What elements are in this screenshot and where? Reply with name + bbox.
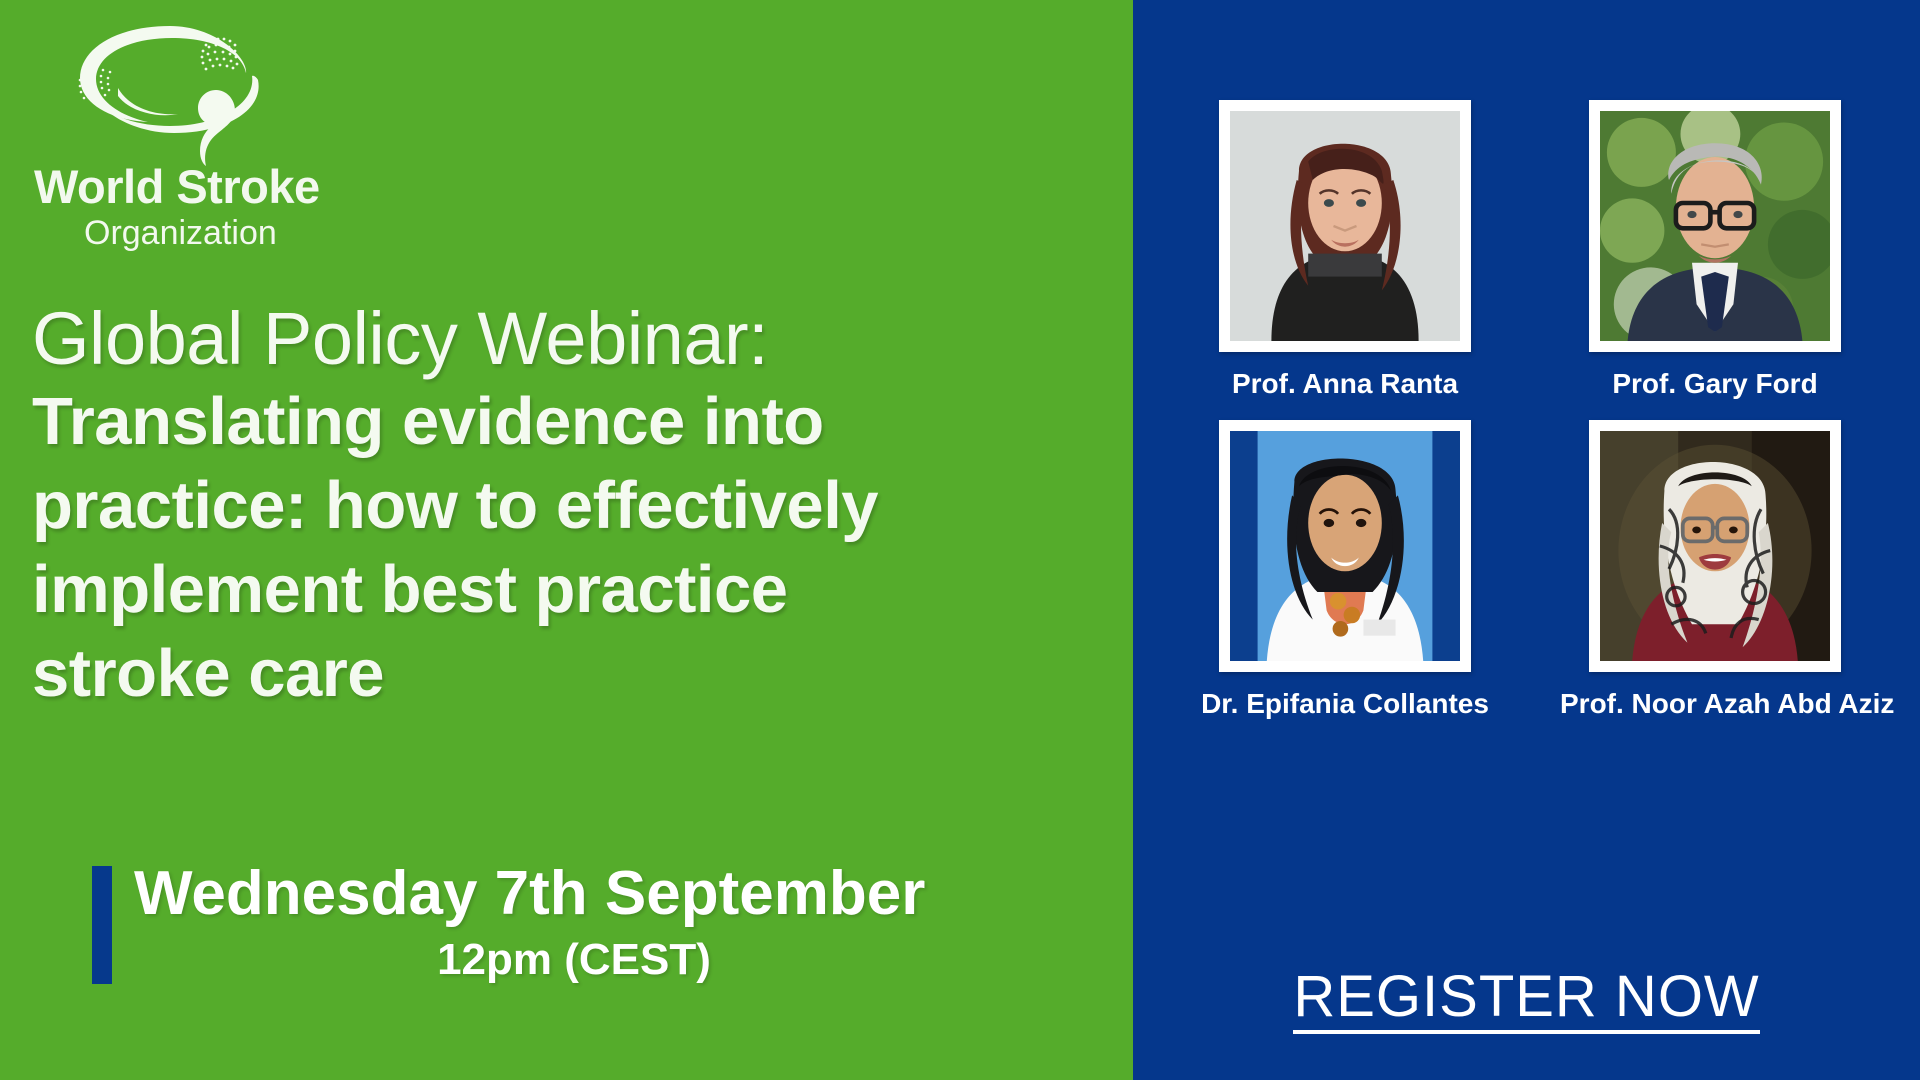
left-green-panel: World Stroke Organization Global Policy … — [0, 0, 1133, 1080]
portrait-epifania-collantes — [1230, 431, 1460, 661]
speaker-grid: Prof. Anna Ranta — [1190, 100, 1870, 720]
speaker-name: Prof. Gary Ford — [1560, 368, 1870, 400]
speaker-photo-frame — [1589, 420, 1841, 672]
accent-bar — [92, 866, 112, 984]
speaker-card: Dr. Epifania Collantes — [1190, 420, 1500, 720]
speaker-card: Prof. Gary Ford — [1560, 100, 1870, 400]
page-title-line-2: practice: how to effectively — [32, 466, 1117, 546]
portrait-noor-azah-abd-aziz — [1600, 431, 1830, 661]
page-title-line-4: stroke care — [32, 634, 1117, 714]
event-time: 12pm (CEST) — [134, 934, 1014, 986]
logo-name-line1: World Stroke — [34, 162, 358, 212]
speaker-name: Prof. Noor Azah Abd Aziz — [1560, 688, 1870, 720]
webinar-promo-poster: World Stroke Organization Global Policy … — [0, 0, 1920, 1080]
brain-swoosh-logo-icon — [66, 18, 276, 166]
register-now-button[interactable]: REGISTER NOW — [1293, 966, 1759, 1034]
right-blue-panel: Prof. Anna Ranta — [1133, 0, 1920, 1080]
speaker-photo-frame — [1219, 100, 1471, 352]
speaker-card: Prof. Anna Ranta — [1190, 100, 1500, 400]
page-title-line-1: Translating evidence into — [32, 382, 1117, 462]
speaker-photo-frame — [1219, 420, 1471, 672]
speaker-name: Prof. Anna Ranta — [1190, 368, 1500, 400]
page-title-eyebrow: Global Policy Webinar: — [32, 300, 1117, 378]
speaker-photo-frame — [1589, 100, 1841, 352]
portrait-anna-ranta — [1230, 111, 1460, 341]
wso-logo: World Stroke Organization — [28, 18, 358, 252]
portrait-gary-ford — [1600, 111, 1830, 341]
logo-name-line2: Organization — [84, 214, 358, 252]
event-datetime-block: Wednesday 7th September 12pm (CEST) — [92, 858, 1092, 986]
speaker-card: Prof. Noor Azah Abd Aziz — [1560, 420, 1870, 720]
speaker-name: Dr. Epifania Collantes — [1190, 688, 1500, 720]
register-cta: REGISTER NOW — [1133, 966, 1920, 1034]
page-title-line-3: implement best practice — [32, 550, 1117, 630]
event-date: Wednesday 7th September — [134, 858, 1092, 930]
headline-block: Global Policy Webinar: Translating evide… — [32, 300, 1117, 714]
